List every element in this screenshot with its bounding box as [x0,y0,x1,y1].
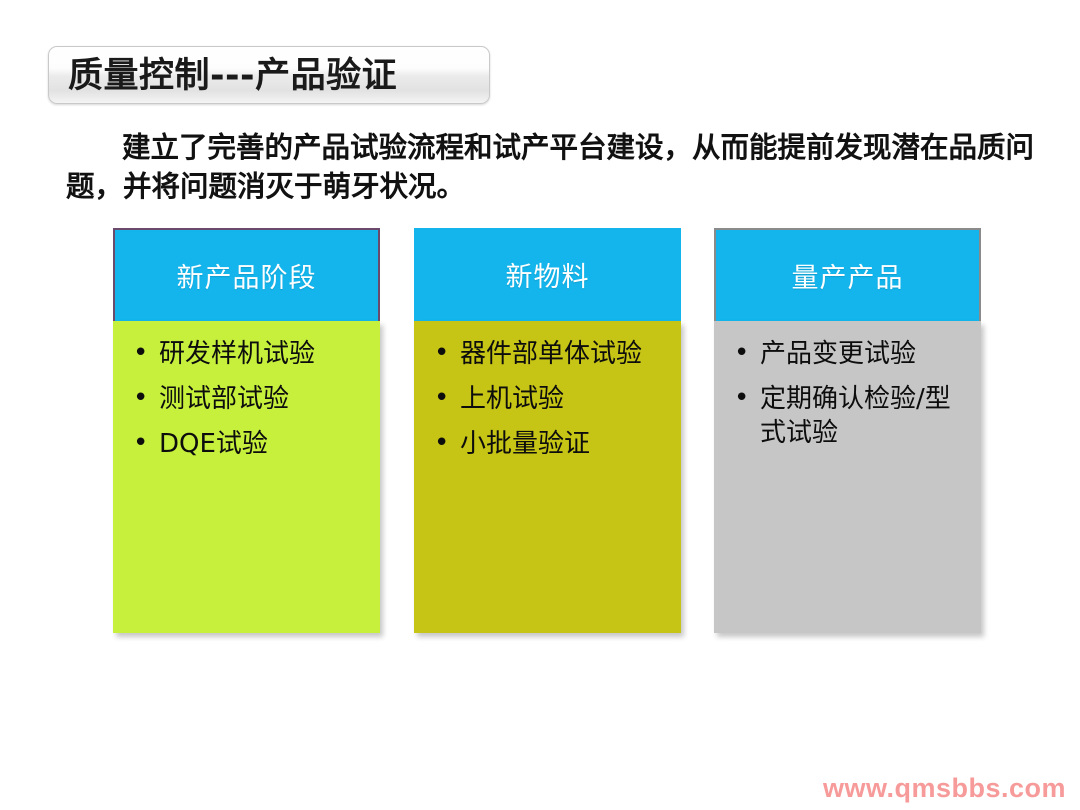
list-item: 测试部试验 [129,382,370,416]
list-item: 小批量验证 [430,427,671,461]
column-mass-production: 量产产品 产品变更试验 定期确认检验/型式试验 [714,228,981,633]
bullet-list: 器件部单体试验 上机试验 小批量验证 [430,337,671,461]
site-watermark: www.qmsbbs.com [823,773,1066,804]
column-new-product-stage: 新产品阶段 研发样机试验 测试部试验 DQE试验 [113,228,380,633]
list-item: DQE试验 [129,427,370,461]
column-body-mass-production: 产品变更试验 定期确认检验/型式试验 [714,321,981,633]
bullet-list: 研发样机试验 测试部试验 DQE试验 [129,337,370,461]
list-item: 器件部单体试验 [430,337,671,371]
column-header-mass-production: 量产产品 [714,228,981,321]
list-item: 上机试验 [430,382,671,416]
list-item: 研发样机试验 [129,337,370,371]
column-body-new-product-stage: 研发样机试验 测试部试验 DQE试验 [113,321,380,633]
list-item: 定期确认检验/型式试验 [730,382,971,450]
list-item: 产品变更试验 [730,337,971,371]
intro-paragraph: 建立了完善的产品试验流程和试产平台建设，从而能提前发现潜在品质问题，并将问题消灭… [66,128,1046,206]
column-header-label: 新物料 [506,255,590,294]
column-header-new-material: 新物料 [414,228,681,321]
page-title: 质量控制---产品验证 [68,52,488,100]
column-header-label: 量产产品 [792,256,904,295]
verification-columns: 新产品阶段 研发样机试验 测试部试验 DQE试验 新物料 器件部单体试验 上机试… [0,228,1080,648]
column-header-label: 新产品阶段 [177,256,317,295]
column-body-new-material: 器件部单体试验 上机试验 小批量验证 [414,321,681,633]
column-new-material: 新物料 器件部单体试验 上机试验 小批量验证 [414,228,681,633]
bullet-list: 产品变更试验 定期确认检验/型式试验 [730,337,971,450]
column-header-new-product-stage: 新产品阶段 [113,228,380,321]
